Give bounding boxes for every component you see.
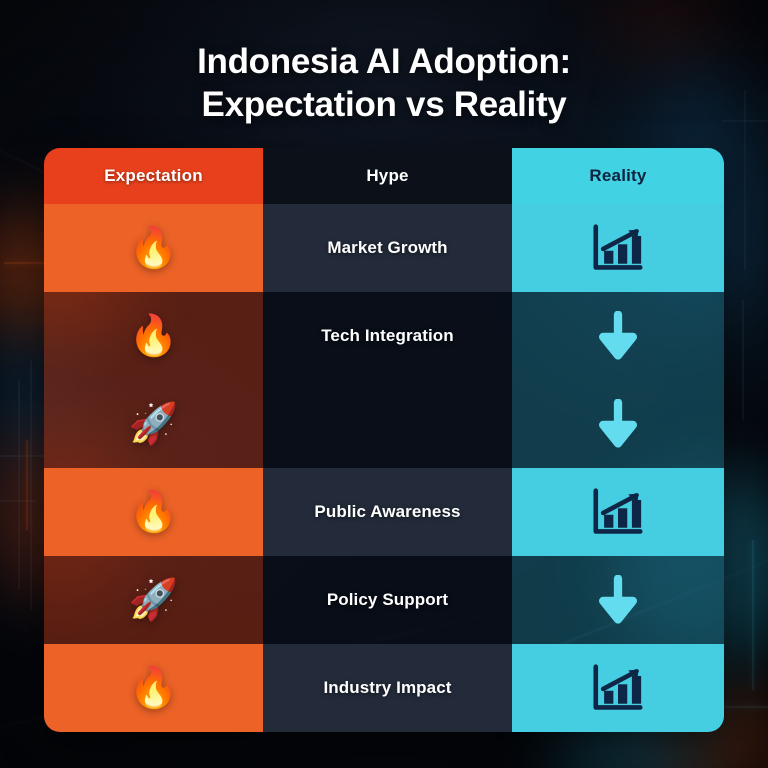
cell-reality-6 xyxy=(512,644,724,732)
cell-reality-4 xyxy=(512,468,724,556)
cell-reality-2 xyxy=(512,292,724,380)
row-label-1: Market Growth xyxy=(327,238,447,258)
cell-expectation-6: 🔥 xyxy=(44,644,263,732)
fire-icon: 🔥 xyxy=(129,316,179,356)
page-title: Indonesia AI Adoption: Expectation vs Re… xyxy=(0,40,768,127)
column-expectation: Expectation 🔥🔥🚀🔥🚀🔥 xyxy=(44,148,263,732)
column-header-expectation: Expectation xyxy=(44,148,263,204)
fire-icon: 🔥 xyxy=(129,492,179,532)
column-reality: Reality xyxy=(512,148,724,732)
bar-chart-up-icon xyxy=(590,223,646,273)
arrow-down-icon xyxy=(590,575,646,625)
cell-hype-3 xyxy=(263,380,512,468)
column-header-hype: Hype xyxy=(263,148,512,204)
cell-reality-1 xyxy=(512,204,724,292)
comparison-table: Expectation 🔥🔥🚀🔥🚀🔥 Hype Market GrowthTec… xyxy=(44,148,724,732)
cell-hype-1: Market Growth xyxy=(263,204,512,292)
column-hype: Hype Market GrowthTech IntegrationPublic… xyxy=(263,148,512,732)
page-title-line-1: Indonesia AI Adoption: xyxy=(197,42,571,81)
cell-hype-2: Tech Integration xyxy=(263,292,512,380)
row-label-2: Tech Integration xyxy=(321,326,454,346)
row-label-4: Public Awareness xyxy=(314,502,460,522)
row-label-6: Industry Impact xyxy=(323,678,451,698)
row-label-5: Policy Support xyxy=(327,590,448,610)
fire-icon: 🔥 xyxy=(129,228,179,268)
cell-expectation-5: 🚀 xyxy=(44,556,263,644)
cell-hype-5: Policy Support xyxy=(263,556,512,644)
rocket-icon: 🚀 xyxy=(129,404,179,444)
cell-hype-4: Public Awareness xyxy=(263,468,512,556)
cell-expectation-3: 🚀 xyxy=(44,380,263,468)
cell-reality-5 xyxy=(512,556,724,644)
cell-reality-3 xyxy=(512,380,724,468)
fire-icon: 🔥 xyxy=(129,668,179,708)
comparison-grid: Expectation 🔥🔥🚀🔥🚀🔥 Hype Market GrowthTec… xyxy=(44,148,724,732)
rocket-icon: 🚀 xyxy=(129,580,179,620)
cell-hype-6: Industry Impact xyxy=(263,644,512,732)
cell-expectation-4: 🔥 xyxy=(44,468,263,556)
column-header-reality: Reality xyxy=(512,148,724,204)
page-title-line-2: Expectation vs Reality xyxy=(0,83,768,126)
cell-expectation-2: 🔥 xyxy=(44,292,263,380)
bar-chart-up-icon xyxy=(590,663,646,713)
bar-chart-up-icon xyxy=(590,487,646,537)
arrow-down-icon xyxy=(590,399,646,449)
arrow-down-icon xyxy=(590,311,646,361)
cell-expectation-1: 🔥 xyxy=(44,204,263,292)
